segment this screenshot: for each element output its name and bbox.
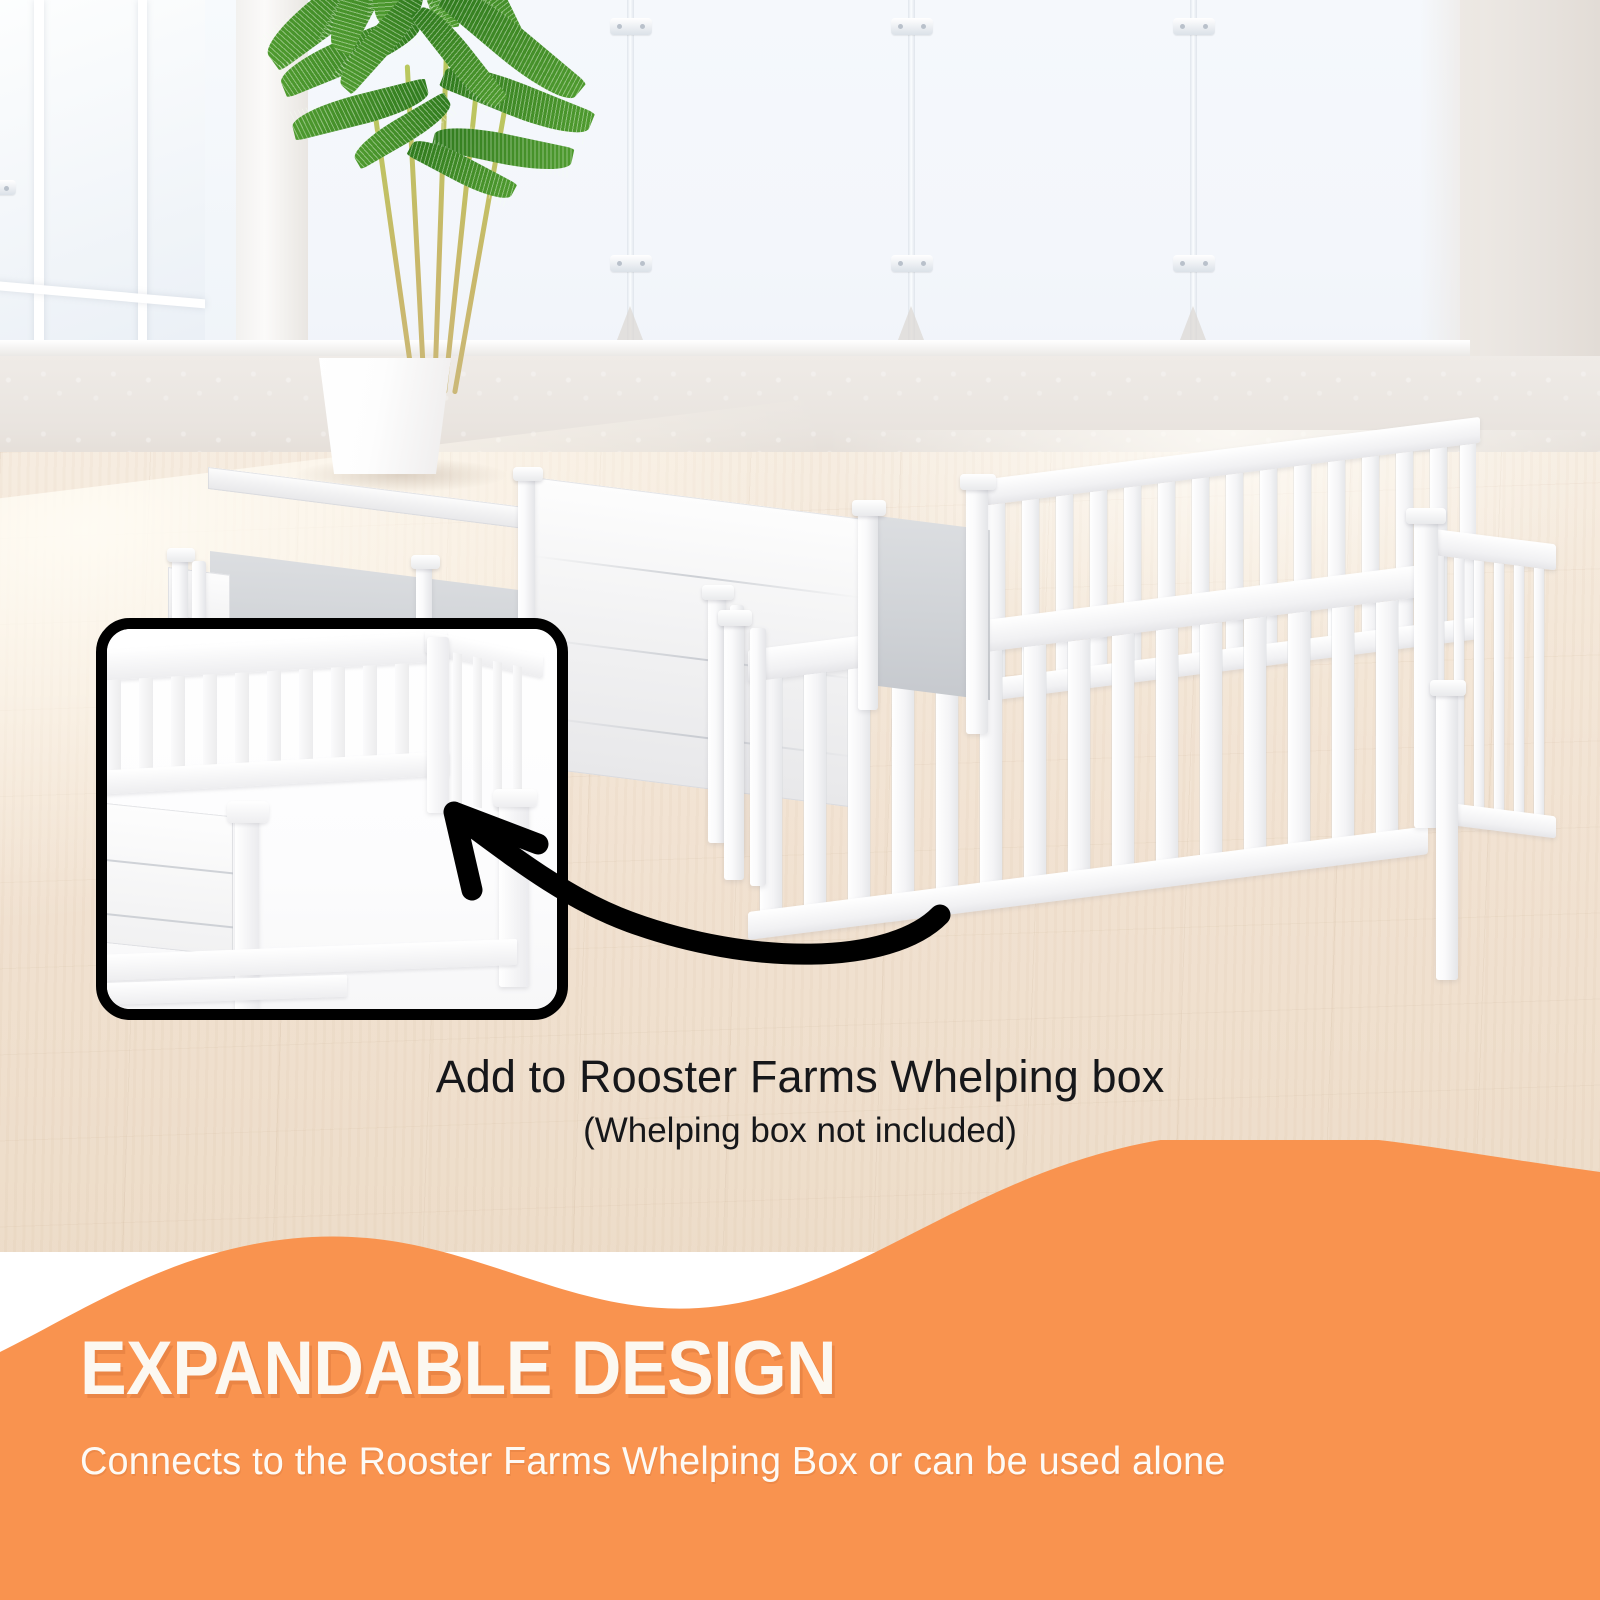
playpen-baluster (1156, 628, 1178, 863)
mullion-bracket-icon (1173, 18, 1215, 35)
playpen-baluster (1200, 622, 1222, 857)
product-marketing-image: Add to Rooster Farms Whelping box (Whelp… (0, 0, 1600, 1600)
inset-connector-post-cap (227, 801, 269, 823)
banner-subline: Connects to the Rooster Farms Whelping B… (80, 1440, 1226, 1484)
inset-baluster (331, 667, 345, 760)
inset-baluster (203, 674, 217, 767)
mullion-foot (1180, 306, 1206, 340)
playpen-baluster (1514, 565, 1524, 814)
whelping-box-post-cap (411, 555, 440, 569)
curved-pointer-arrow (420, 770, 980, 970)
playpen-baluster (1112, 633, 1134, 868)
inset-baluster (395, 663, 409, 756)
playpen-post-cap (718, 610, 752, 626)
inset-baluster (139, 678, 153, 771)
inset-baluster (363, 665, 377, 758)
caption-block: Add to Rooster Farms Whelping box (Whelp… (0, 1050, 1600, 1153)
inset-baluster (171, 676, 185, 769)
whelping-box-post-cap (167, 548, 195, 562)
playpen-baluster (1494, 563, 1504, 812)
playpen-baluster (1376, 600, 1398, 835)
playpen-corner-post (1414, 518, 1438, 828)
inset-baluster (299, 669, 313, 762)
playpen-post-cap (1430, 680, 1466, 696)
playpen-post-cap (1406, 508, 1446, 524)
window-mullion (908, 0, 915, 350)
playpen-post-cap (852, 500, 886, 516)
playpen-baluster (1288, 611, 1310, 846)
playpen-post (858, 510, 878, 710)
playpen-baluster (1332, 605, 1354, 840)
mullion-foot (898, 306, 924, 340)
playpen-baluster (1474, 560, 1484, 809)
caption-line-1: Add to Rooster Farms Whelping box (0, 1050, 1600, 1103)
window-latch-icon (0, 180, 16, 195)
mullion-bracket-icon (891, 255, 933, 272)
playpen-corner-post (1436, 690, 1458, 980)
playpen-baluster (1024, 644, 1046, 879)
playpen-post (966, 484, 988, 734)
whelping-box-post-cap (513, 467, 543, 481)
window-mullion (1190, 0, 1197, 350)
playpen-baluster (1534, 568, 1544, 817)
inset-baluster (107, 679, 121, 772)
orange-wave-banner: EXPANDABLE DESIGN Connects to the Rooste… (0, 1140, 1600, 1600)
mullion-bracket-icon (1173, 255, 1215, 272)
inset-whelping-box-panel (96, 802, 233, 957)
inset-baluster (235, 672, 249, 765)
mullion-bracket-icon (891, 18, 933, 35)
playpen-baluster (1244, 617, 1266, 852)
playpen-post-cap (960, 474, 996, 490)
banner-text-block: EXPANDABLE DESIGN Connects to the Rooste… (0, 1140, 1600, 1600)
palm-plant (236, 0, 656, 394)
playpen-baluster (1068, 639, 1090, 874)
inset-baluster (267, 670, 281, 763)
banner-headline: EXPANDABLE DESIGN (80, 1325, 836, 1412)
